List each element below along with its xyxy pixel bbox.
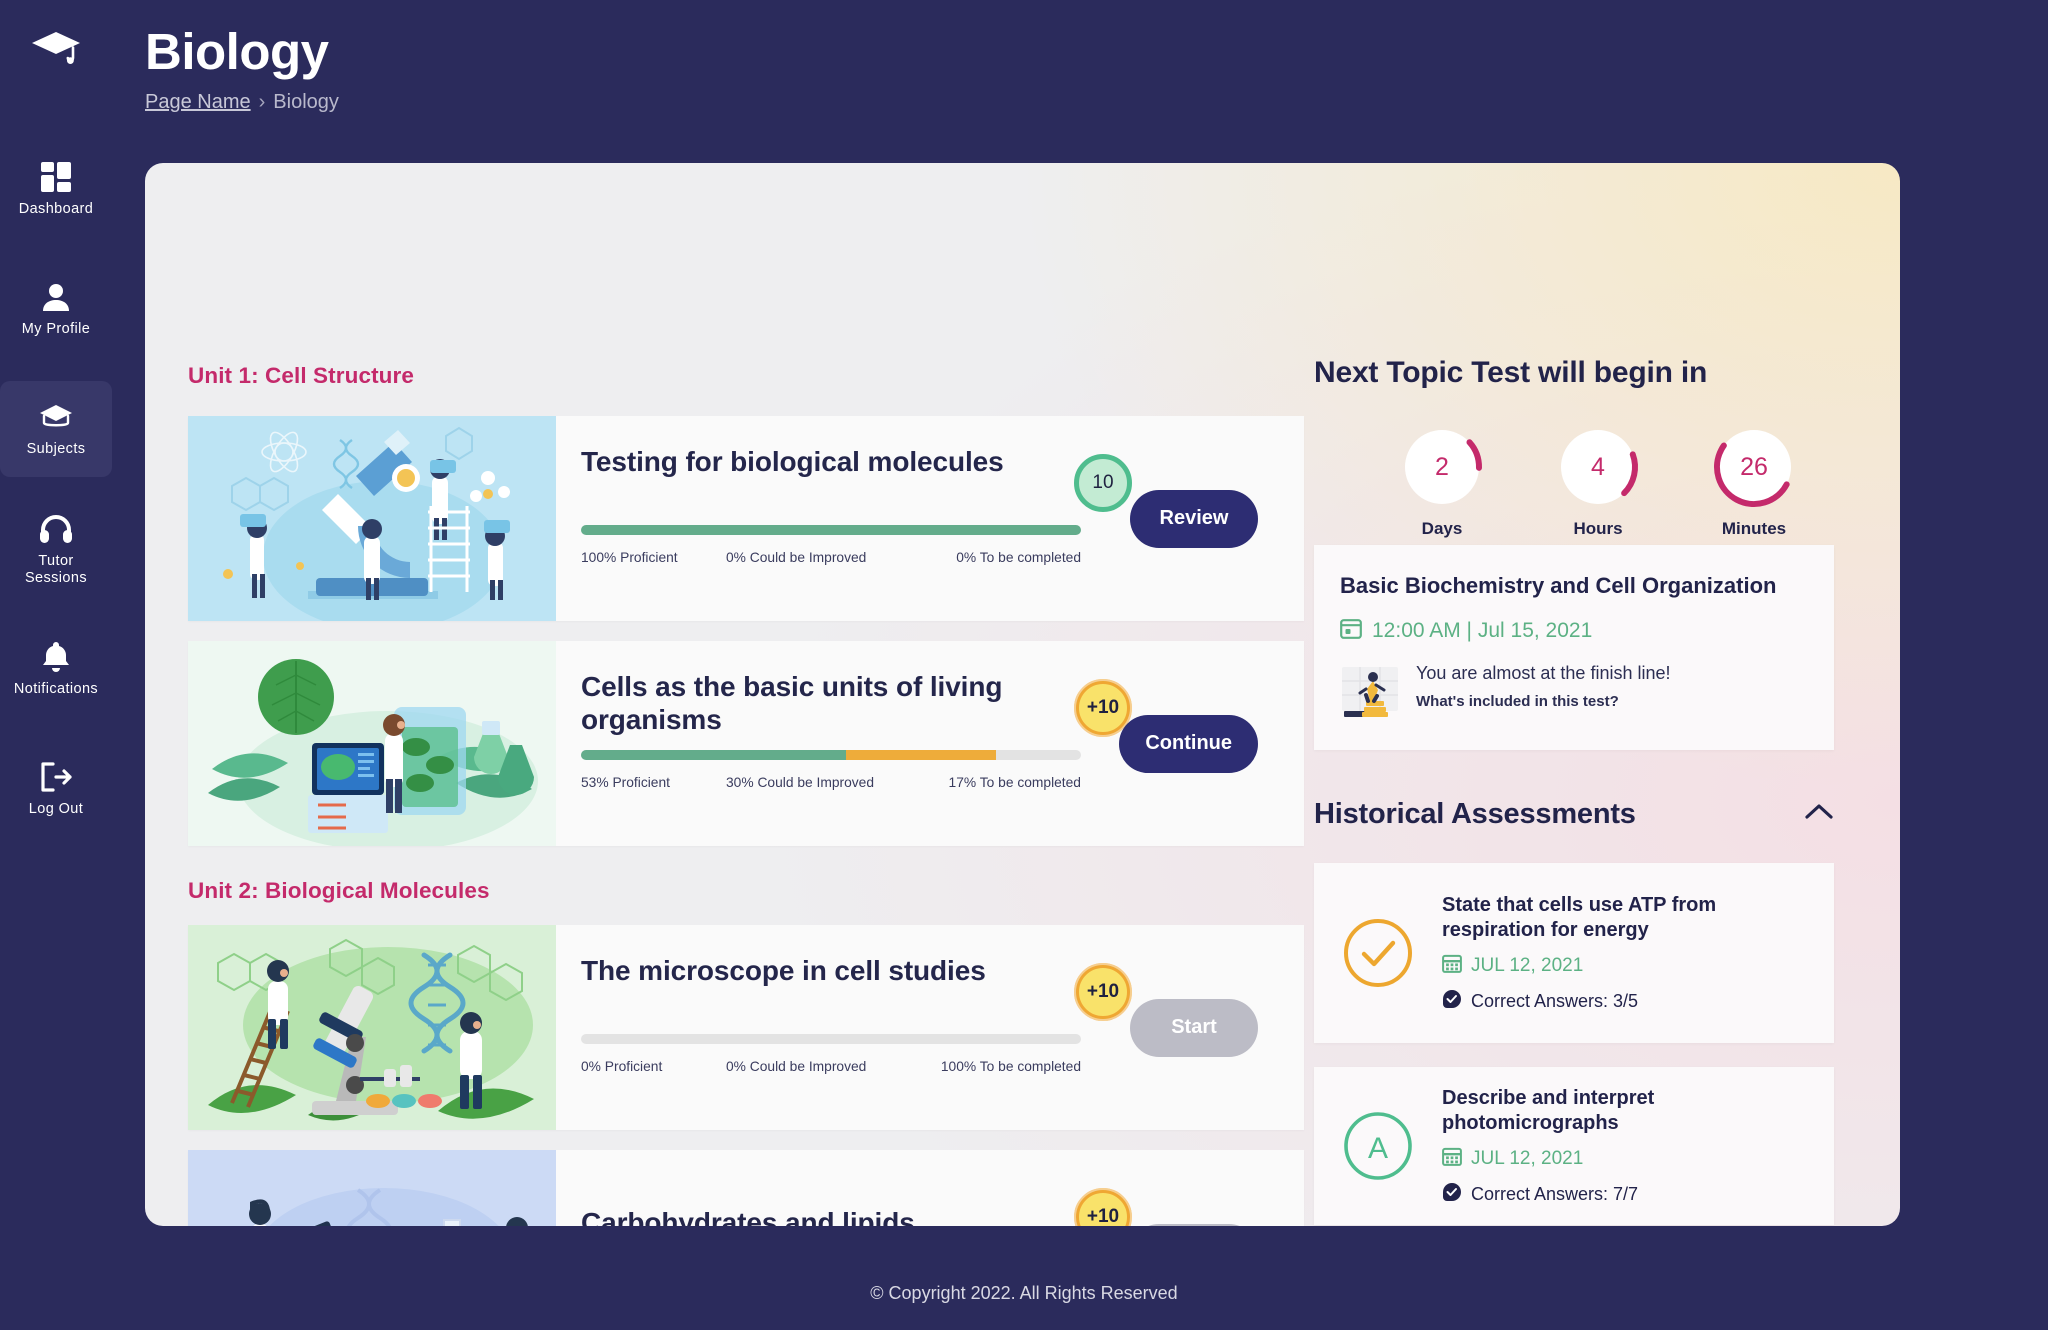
sidebar-item-notifications[interactable]: Notifications xyxy=(0,621,112,717)
countdown-unit-hours: 4 Hours xyxy=(1556,425,1640,539)
user-icon xyxy=(41,280,71,314)
lesson-card[interactable]: Carbohydrates and lipids +10 0% Proficie… xyxy=(188,1150,1304,1226)
lesson-thumbnail xyxy=(188,416,556,621)
dna-microscope-illustration-icon xyxy=(188,925,556,1130)
next-test-link[interactable]: What's included in this test? xyxy=(1416,693,1671,710)
legend-todo: 0% To be completed xyxy=(916,550,1081,565)
assessment-title: Describe and interpret photomicrographs xyxy=(1442,1086,1818,1136)
footer-copyright: © Copyright 2022. All Rights Reserved xyxy=(0,1283,2048,1304)
lesson-thumbnail xyxy=(188,925,556,1130)
sidebar-item-log-out[interactable]: Log Out xyxy=(0,741,112,837)
lesson-action-button[interactable]: Continue xyxy=(1119,715,1258,773)
lesson-title: The microscope in cell studies xyxy=(581,955,1031,988)
historical-assessments-title: Historical Assessments xyxy=(1314,798,1636,831)
sidebar: Dashboard My Profile Subjects Tutor Sess… xyxy=(0,0,112,1330)
assessment-answers: Correct Answers: 3/5 xyxy=(1442,989,1818,1014)
lesson-points-badge: +10 xyxy=(1074,963,1132,1021)
next-test-message: You are almost at the finish line! xyxy=(1416,663,1671,684)
next-test-card[interactable]: Basic Biochemistry and Cell Organization… xyxy=(1314,545,1834,750)
assessment-card[interactable]: A Describe and interpret photomicrograph… xyxy=(1314,1067,1834,1225)
next-test-title: Basic Biochemistry and Cell Organization xyxy=(1340,573,1808,599)
assessment-date: JUL 12, 2021 xyxy=(1442,953,1818,979)
sidebar-item-subjects[interactable]: Subjects xyxy=(0,381,112,477)
page-header: Biology Page Name›Biology xyxy=(145,24,339,114)
app-logo[interactable] xyxy=(30,30,82,75)
calendar-icon xyxy=(1340,617,1362,645)
lesson-info: Carbohydrates and lipids +10 0% Proficie… xyxy=(556,1150,1304,1226)
countdown-unit-days: 2 Days xyxy=(1400,425,1484,539)
sidebar-item-dashboard[interactable]: Dashboard xyxy=(0,141,112,237)
page-title: Biology xyxy=(145,24,339,80)
sidebar-item-label: Notifications xyxy=(14,681,98,698)
calendar-icon xyxy=(1442,1146,1462,1172)
lesson-title: Carbohydrates and lipids xyxy=(581,1180,1031,1226)
lesson-thumbnail xyxy=(188,641,556,846)
breadcrumb-parent-link[interactable]: Page Name xyxy=(145,91,251,113)
breadcrumb: Page Name›Biology xyxy=(145,91,339,114)
assessment-card[interactable]: State that cells use ATP from respiratio… xyxy=(1314,863,1834,1043)
lesson-progress: 100% Proficient 0% Could be Improved 0% … xyxy=(581,525,1081,565)
assessment-date-text: JUL 12, 2021 xyxy=(1471,1148,1583,1170)
assessment-date: JUL 12, 2021 xyxy=(1442,1146,1818,1172)
lesson-points-badge: 10 xyxy=(1074,454,1132,512)
lesson-card[interactable]: The microscope in cell studies +10 0% Pr… xyxy=(188,925,1304,1130)
check-circle-icon xyxy=(1314,917,1442,989)
lesson-action-button[interactable]: Start xyxy=(1130,999,1258,1057)
progress-bar xyxy=(581,1034,1081,1044)
headset-icon xyxy=(40,512,72,546)
next-test-datetime-text: 12:00 AM | Jul 15, 2021 xyxy=(1372,619,1592,643)
breadcrumb-separator: › xyxy=(259,91,266,113)
sidebar-item-label: Dashboard xyxy=(19,201,94,218)
assessment-title: State that cells use ATP from respiratio… xyxy=(1442,893,1818,943)
lesson-progress: 0% Proficient 0% Could be Improved 100% … xyxy=(581,1034,1081,1074)
lesson-title: Testing for biological molecules xyxy=(581,446,1031,479)
legend-improve: 0% Could be Improved xyxy=(726,1059,916,1074)
assessment-answers: Correct Answers: 7/7 xyxy=(1442,1182,1818,1207)
lesson-title: Cells as the basic units of living organ… xyxy=(581,671,1031,737)
graduation-cap-icon xyxy=(30,57,82,74)
lesson-action-button[interactable]: Review xyxy=(1130,490,1258,548)
content-panel: Unit 1: Cell Structure Unit 2: Biologica… xyxy=(145,163,1900,1226)
progress-bar xyxy=(581,525,1081,535)
progress-legend: 53% Proficient 30% Could be Improved 17%… xyxy=(581,775,1081,790)
legend-proficient: 53% Proficient xyxy=(581,775,726,790)
countdown-unit-minutes: 26 Minutes xyxy=(1712,425,1796,539)
next-test-datetime: 12:00 AM | Jul 15, 2021 xyxy=(1340,617,1808,645)
sidebar-item-label: Subjects xyxy=(27,441,86,458)
lesson-points-badge: +10 xyxy=(1074,1188,1132,1226)
countdown-ring: 26 xyxy=(1712,425,1796,509)
chevron-up-icon[interactable] xyxy=(1804,802,1834,827)
next-test-heading: Next Topic Test will begin in xyxy=(1314,356,1707,390)
sidebar-right-column: Next Topic Test will begin in 2 Days xyxy=(1300,163,1900,1226)
countdown-timer: 2 Days 4 Hours xyxy=(1400,425,1796,539)
progress-legend: 0% Proficient 0% Could be Improved 100% … xyxy=(581,1059,1081,1074)
sidebar-item-label: Tutor Sessions xyxy=(25,553,87,586)
legend-improve: 0% Could be Improved xyxy=(726,550,916,565)
countdown-value: 2 xyxy=(1400,425,1484,509)
lesson-thumbnail xyxy=(188,1150,556,1226)
legend-todo: 17% To be completed xyxy=(916,775,1081,790)
bell-icon xyxy=(42,640,70,674)
microscope-lab-illustration-icon xyxy=(188,416,556,621)
calendar-icon xyxy=(1442,953,1462,979)
grid-icon xyxy=(41,160,71,194)
progress-legend: 100% Proficient 0% Could be Improved 0% … xyxy=(581,550,1081,565)
svg-text:A: A xyxy=(1368,1132,1388,1165)
unit-heading-2: Unit 2: Biological Molecules xyxy=(188,878,490,904)
countdown-label: Hours xyxy=(1556,519,1640,539)
historical-assessments-header: Historical Assessments xyxy=(1314,798,1834,831)
unit-heading-1: Unit 1: Cell Structure xyxy=(188,363,414,389)
person-climbing-steps-icon xyxy=(1340,663,1402,726)
sidebar-item-my-profile[interactable]: My Profile xyxy=(0,261,112,357)
countdown-label: Minutes xyxy=(1712,519,1796,539)
grade-circle-icon: A xyxy=(1314,1110,1442,1182)
sidebar-item-label: My Profile xyxy=(22,321,90,338)
countdown-value: 4 xyxy=(1556,425,1640,509)
progress-segment-improve xyxy=(846,750,996,760)
graduation-cap-icon xyxy=(39,400,73,434)
plant-lab-illustration-icon xyxy=(188,641,556,846)
lesson-card[interactable]: Testing for biological molecules 10 100%… xyxy=(188,416,1304,621)
countdown-ring: 2 xyxy=(1400,425,1484,509)
progress-segment-proficient xyxy=(581,750,846,760)
legend-todo: 100% To be completed xyxy=(916,1059,1081,1074)
legend-proficient: 0% Proficient xyxy=(581,1059,726,1074)
assessment-date-text: JUL 12, 2021 xyxy=(1471,955,1583,977)
legend-improve: 30% Could be Improved xyxy=(726,775,916,790)
countdown-label: Days xyxy=(1400,519,1484,539)
progress-segment-proficient xyxy=(581,525,1081,535)
assessment-answers-text: Correct Answers: 3/5 xyxy=(1471,991,1638,1012)
app-root: Dashboard My Profile Subjects Tutor Sess… xyxy=(0,0,2048,1330)
logout-icon xyxy=(40,760,72,794)
next-test-message-row: You are almost at the finish line! What'… xyxy=(1340,663,1808,726)
sidebar-item-tutor-sessions[interactable]: Tutor Sessions xyxy=(0,501,112,597)
legend-proficient: 100% Proficient xyxy=(581,550,726,565)
assessment-answers-text: Correct Answers: 7/7 xyxy=(1471,1184,1638,1205)
check-badge-icon xyxy=(1442,1182,1462,1207)
countdown-ring: 4 xyxy=(1556,425,1640,509)
breadcrumb-current: Biology xyxy=(273,91,339,113)
lessons-column: Unit 1: Cell Structure Unit 2: Biologica… xyxy=(145,163,1300,1226)
assessment-info: Describe and interpret photomicrographs … xyxy=(1442,1086,1834,1207)
assessment-info: State that cells use ATP from respiratio… xyxy=(1442,893,1834,1014)
countdown-value: 26 xyxy=(1712,425,1796,509)
lesson-progress: 53% Proficient 30% Could be Improved 17%… xyxy=(581,750,1081,790)
progress-bar xyxy=(581,750,1081,760)
flask-chemistry-illustration-icon xyxy=(188,1150,556,1226)
check-badge-icon xyxy=(1442,989,1462,1014)
lesson-card[interactable]: Cells as the basic units of living organ… xyxy=(188,641,1304,846)
sidebar-item-label: Log Out xyxy=(29,801,83,818)
